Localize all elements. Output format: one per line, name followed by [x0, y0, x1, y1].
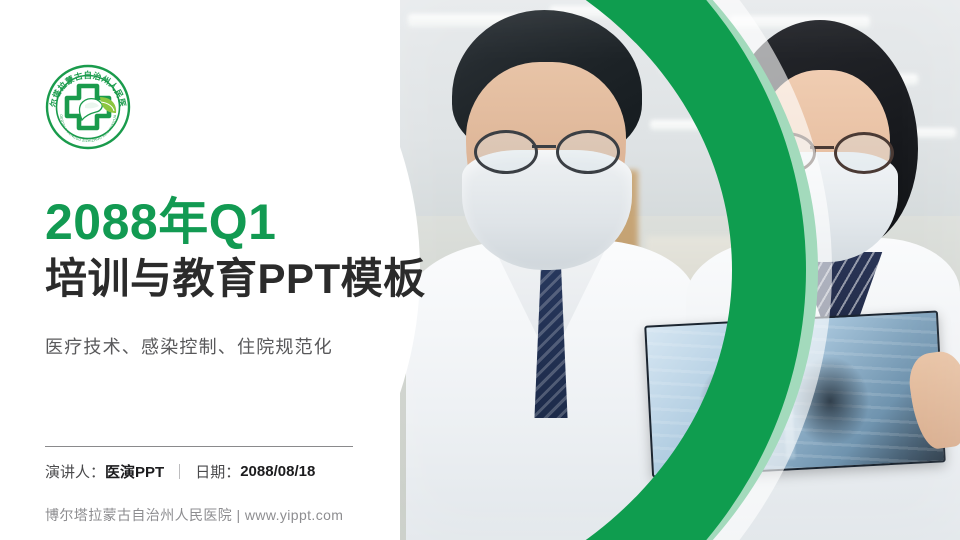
date-value: 2088/08/18: [240, 463, 315, 480]
footer-organization: 博尔塔拉蒙古自治州人民医院 | www.yippt.com: [45, 505, 343, 525]
hospital-logo: 博尔塔拉蒙古自治州人民医院 BOERTALA MENGGU ZIZHIZHOU …: [45, 64, 131, 150]
title-slide: 博尔塔拉蒙古自治州人民医院 BOERTALA MENGGU ZIZHIZHOU …: [0, 0, 960, 540]
slide-meta: 演讲人：医演PPT 日期：2088/08/18: [45, 461, 315, 482]
female-doctor-eyeglasses: [756, 132, 896, 170]
page-subtitle: 医疗技术、感染控制、住院规范化: [45, 333, 333, 359]
date-label: 日期：: [195, 461, 240, 482]
presenter-value: 医演PPT: [105, 461, 164, 482]
xray-spine: [780, 329, 796, 460]
presenter-label: 演讲人：: [45, 461, 105, 482]
male-doctor-eyeglasses: [472, 130, 622, 170]
meta-separator: [179, 464, 180, 479]
divider: [45, 446, 353, 447]
title-year: 2088年Q1: [45, 196, 276, 249]
slide-content: 博尔塔拉蒙古自治州人民医院 BOERTALA MENGGU ZIZHIZHOU …: [0, 0, 420, 540]
doctors-photo: [400, 0, 960, 540]
chest-xray-film: [644, 310, 946, 477]
page-title: 培训与教育PPT模板: [45, 255, 426, 302]
